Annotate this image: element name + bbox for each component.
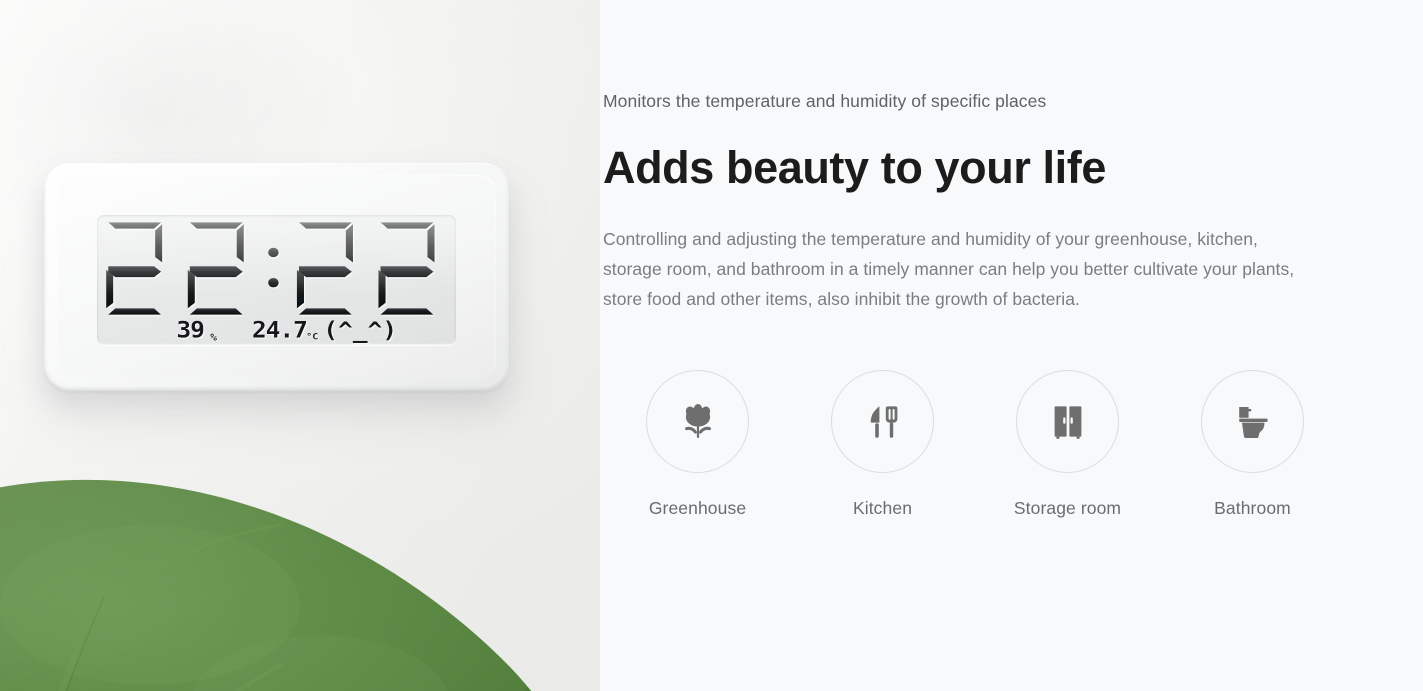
scene-icon-circle-kitchen[interactable] — [831, 370, 934, 473]
knife-spatula-icon — [859, 398, 907, 446]
scene-icon-circle-storage-room[interactable] — [1016, 370, 1119, 473]
lcd-comfort-face: (^_^) — [323, 318, 397, 344]
lcd-humidity-value: 39 — [177, 318, 204, 344]
lcd-temperature-unit: °C — [306, 332, 318, 342]
temperature-humidity-monitor: 39 % 24.7 °C (^_^) — [44, 163, 509, 391]
description-paragraph: Controlling and adjusting the temperatur… — [603, 224, 1303, 314]
feature-section: 39 % 24.7 °C (^_^) — [0, 0, 1423, 691]
scene-item-bathroom[interactable]: Bathroom — [1160, 370, 1345, 519]
lcd-screen: 39 % 24.7 °C (^_^) — [97, 215, 456, 345]
product-photo: 39 % 24.7 °C (^_^) — [0, 0, 600, 691]
lcd-segments: 39 % 24.7 °C (^_^) — [97, 215, 456, 345]
scene-label-bathroom: Bathroom — [1214, 498, 1291, 519]
green-leaf — [0, 455, 600, 691]
leaf-shape — [0, 455, 600, 691]
toilet-icon — [1229, 398, 1277, 446]
scene-icon-row: Greenhouse Kitchen — [603, 370, 1423, 519]
wardrobe-icon — [1044, 398, 1092, 446]
scene-item-storage-room[interactable]: Storage room — [975, 370, 1160, 519]
flower-icon — [674, 398, 722, 446]
scene-label-greenhouse: Greenhouse — [649, 498, 746, 519]
device-bezel: 39 % 24.7 °C (^_^) — [57, 175, 496, 378]
scene-item-kitchen[interactable]: Kitchen — [790, 370, 975, 519]
scene-item-greenhouse[interactable]: Greenhouse — [605, 370, 790, 519]
scene-icon-circle-greenhouse[interactable] — [646, 370, 749, 473]
scene-icon-circle-bathroom[interactable] — [1201, 370, 1304, 473]
eyebrow-text: Monitors the temperature and humidity of… — [603, 88, 1423, 114]
scene-label-kitchen: Kitchen — [853, 498, 912, 519]
lcd-humidity-unit: % — [210, 331, 217, 343]
page-title: Adds beauty to your life — [603, 142, 1423, 194]
content-column: Monitors the temperature and humidity of… — [600, 0, 1423, 691]
scene-label-storage-room: Storage room — [1014, 498, 1121, 519]
lcd-temperature-value: 24.7 — [252, 318, 307, 344]
